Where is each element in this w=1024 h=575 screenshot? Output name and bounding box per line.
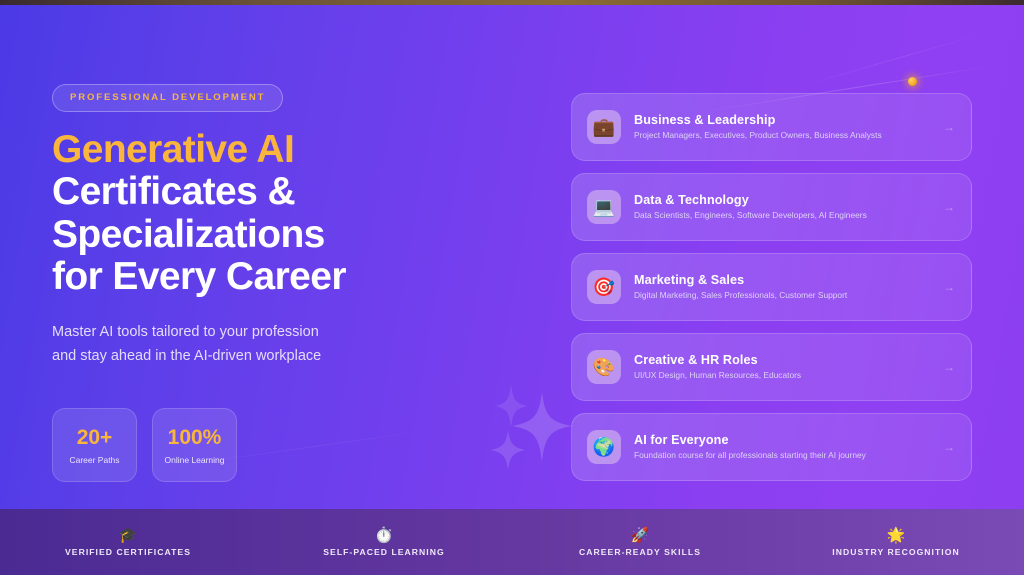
footer-item-self-paced-learning: ⏱️ SELF-PACED LEARNING (256, 528, 512, 557)
artist-palette-icon: 🎨 (587, 350, 621, 384)
card-subtitle: Foundation course for all professionals … (634, 450, 937, 461)
headline-highlight: Generative AI (52, 129, 522, 171)
hero-subtitle: Master AI tools tailored to your profess… (52, 320, 522, 368)
card-title: AI for Everyone (634, 433, 937, 447)
stat-card: 100% Online Learning (152, 408, 237, 482)
card-title: Business & Leadership (634, 113, 937, 127)
decorative-streak (794, 32, 987, 88)
arrow-right-icon[interactable]: → (937, 360, 955, 374)
card-body: Marketing & Sales Digital Marketing, Sal… (634, 273, 937, 301)
card-body: Data & Technology Data Scientists, Engin… (634, 193, 937, 221)
graduation-cap-icon: 🎓 (119, 528, 138, 543)
subtitle-line-2: and stay ahead in the AI-driven workplac… (52, 348, 321, 364)
stat-card-group: 20+ Career Paths 100% Online Learning (52, 408, 522, 482)
page-title: Generative AI Certificates & Specializat… (52, 129, 522, 298)
hero-slide: PROFESSIONAL DEVELOPMENT Generative AI C… (0, 0, 1024, 575)
card-body: Creative & HR Roles UI/UX Design, Human … (634, 353, 937, 381)
card-subtitle: UI/UX Design, Human Resources, Educators (634, 370, 937, 381)
rocket-icon: 🚀 (631, 528, 650, 543)
globe-icon: 🌍 (587, 430, 621, 464)
stat-value: 100% (168, 426, 222, 450)
card-subtitle: Data Scientists, Engineers, Software Dev… (634, 210, 937, 221)
card-subtitle: Project Managers, Executives, Product Ow… (634, 130, 937, 141)
card-title: Creative & HR Roles (634, 353, 937, 367)
footer-item-label: CAREER-READY SKILLS (579, 547, 701, 557)
card-title: Marketing & Sales (634, 273, 937, 287)
footer-item-label: INDUSTRY RECOGNITION (832, 547, 959, 557)
top-accent-strip (0, 0, 1024, 5)
arrow-right-icon[interactable]: → (937, 200, 955, 214)
star-icon: 🌟 (887, 528, 906, 543)
category-card-data-technology[interactable]: 💻 Data & Technology Data Scientists, Eng… (571, 173, 972, 241)
target-icon: 🎯 (587, 270, 621, 304)
footer-item-label: SELF-PACED LEARNING (323, 547, 444, 557)
category-card-ai-for-everyone[interactable]: 🌍 AI for Everyone Foundation course for … (571, 413, 972, 481)
stat-card: 20+ Career Paths (52, 408, 137, 482)
footer-item-career-ready-skills: 🚀 CAREER-READY SKILLS (512, 528, 768, 557)
subtitle-line-1: Master AI tools tailored to your profess… (52, 324, 319, 340)
eyebrow-badge: PROFESSIONAL DEVELOPMENT (52, 84, 283, 112)
stat-label: Career Paths (69, 455, 119, 465)
card-body: Business & Leadership Project Managers, … (634, 113, 937, 141)
category-card-list: 💼 Business & Leadership Project Managers… (571, 93, 972, 493)
briefcase-icon: 💼 (587, 110, 621, 144)
benefits-footer-bar: 🎓 VERIFIED CERTIFICATES ⏱️ SELF-PACED LE… (0, 509, 1024, 575)
category-card-marketing-sales[interactable]: 🎯 Marketing & Sales Digital Marketing, S… (571, 253, 972, 321)
category-card-business-leadership[interactable]: 💼 Business & Leadership Project Managers… (571, 93, 972, 161)
card-body: AI for Everyone Foundation course for al… (634, 433, 937, 461)
hero-text-column: PROFESSIONAL DEVELOPMENT Generative AI C… (52, 0, 522, 482)
footer-item-label: VERIFIED CERTIFICATES (65, 547, 191, 557)
stat-label: Online Learning (164, 455, 224, 465)
arrow-right-icon[interactable]: → (937, 120, 955, 134)
decorative-dot (908, 77, 917, 86)
category-card-creative-hr[interactable]: 🎨 Creative & HR Roles UI/UX Design, Huma… (571, 333, 972, 401)
card-title: Data & Technology (634, 193, 937, 207)
footer-item-industry-recognition: 🌟 INDUSTRY RECOGNITION (768, 528, 1024, 557)
headline-line-4: for Every Career (52, 256, 522, 298)
headline-line-2: Certificates & (52, 171, 522, 213)
stat-value: 20+ (77, 426, 113, 450)
headline-line-3: Specializations (52, 214, 522, 256)
laptop-icon: 💻 (587, 190, 621, 224)
arrow-right-icon[interactable]: → (937, 440, 955, 454)
footer-item-verified-certificates: 🎓 VERIFIED CERTIFICATES (0, 528, 256, 557)
arrow-right-icon[interactable]: → (937, 280, 955, 294)
stopwatch-icon: ⏱️ (375, 528, 394, 543)
card-subtitle: Digital Marketing, Sales Professionals, … (634, 290, 937, 301)
